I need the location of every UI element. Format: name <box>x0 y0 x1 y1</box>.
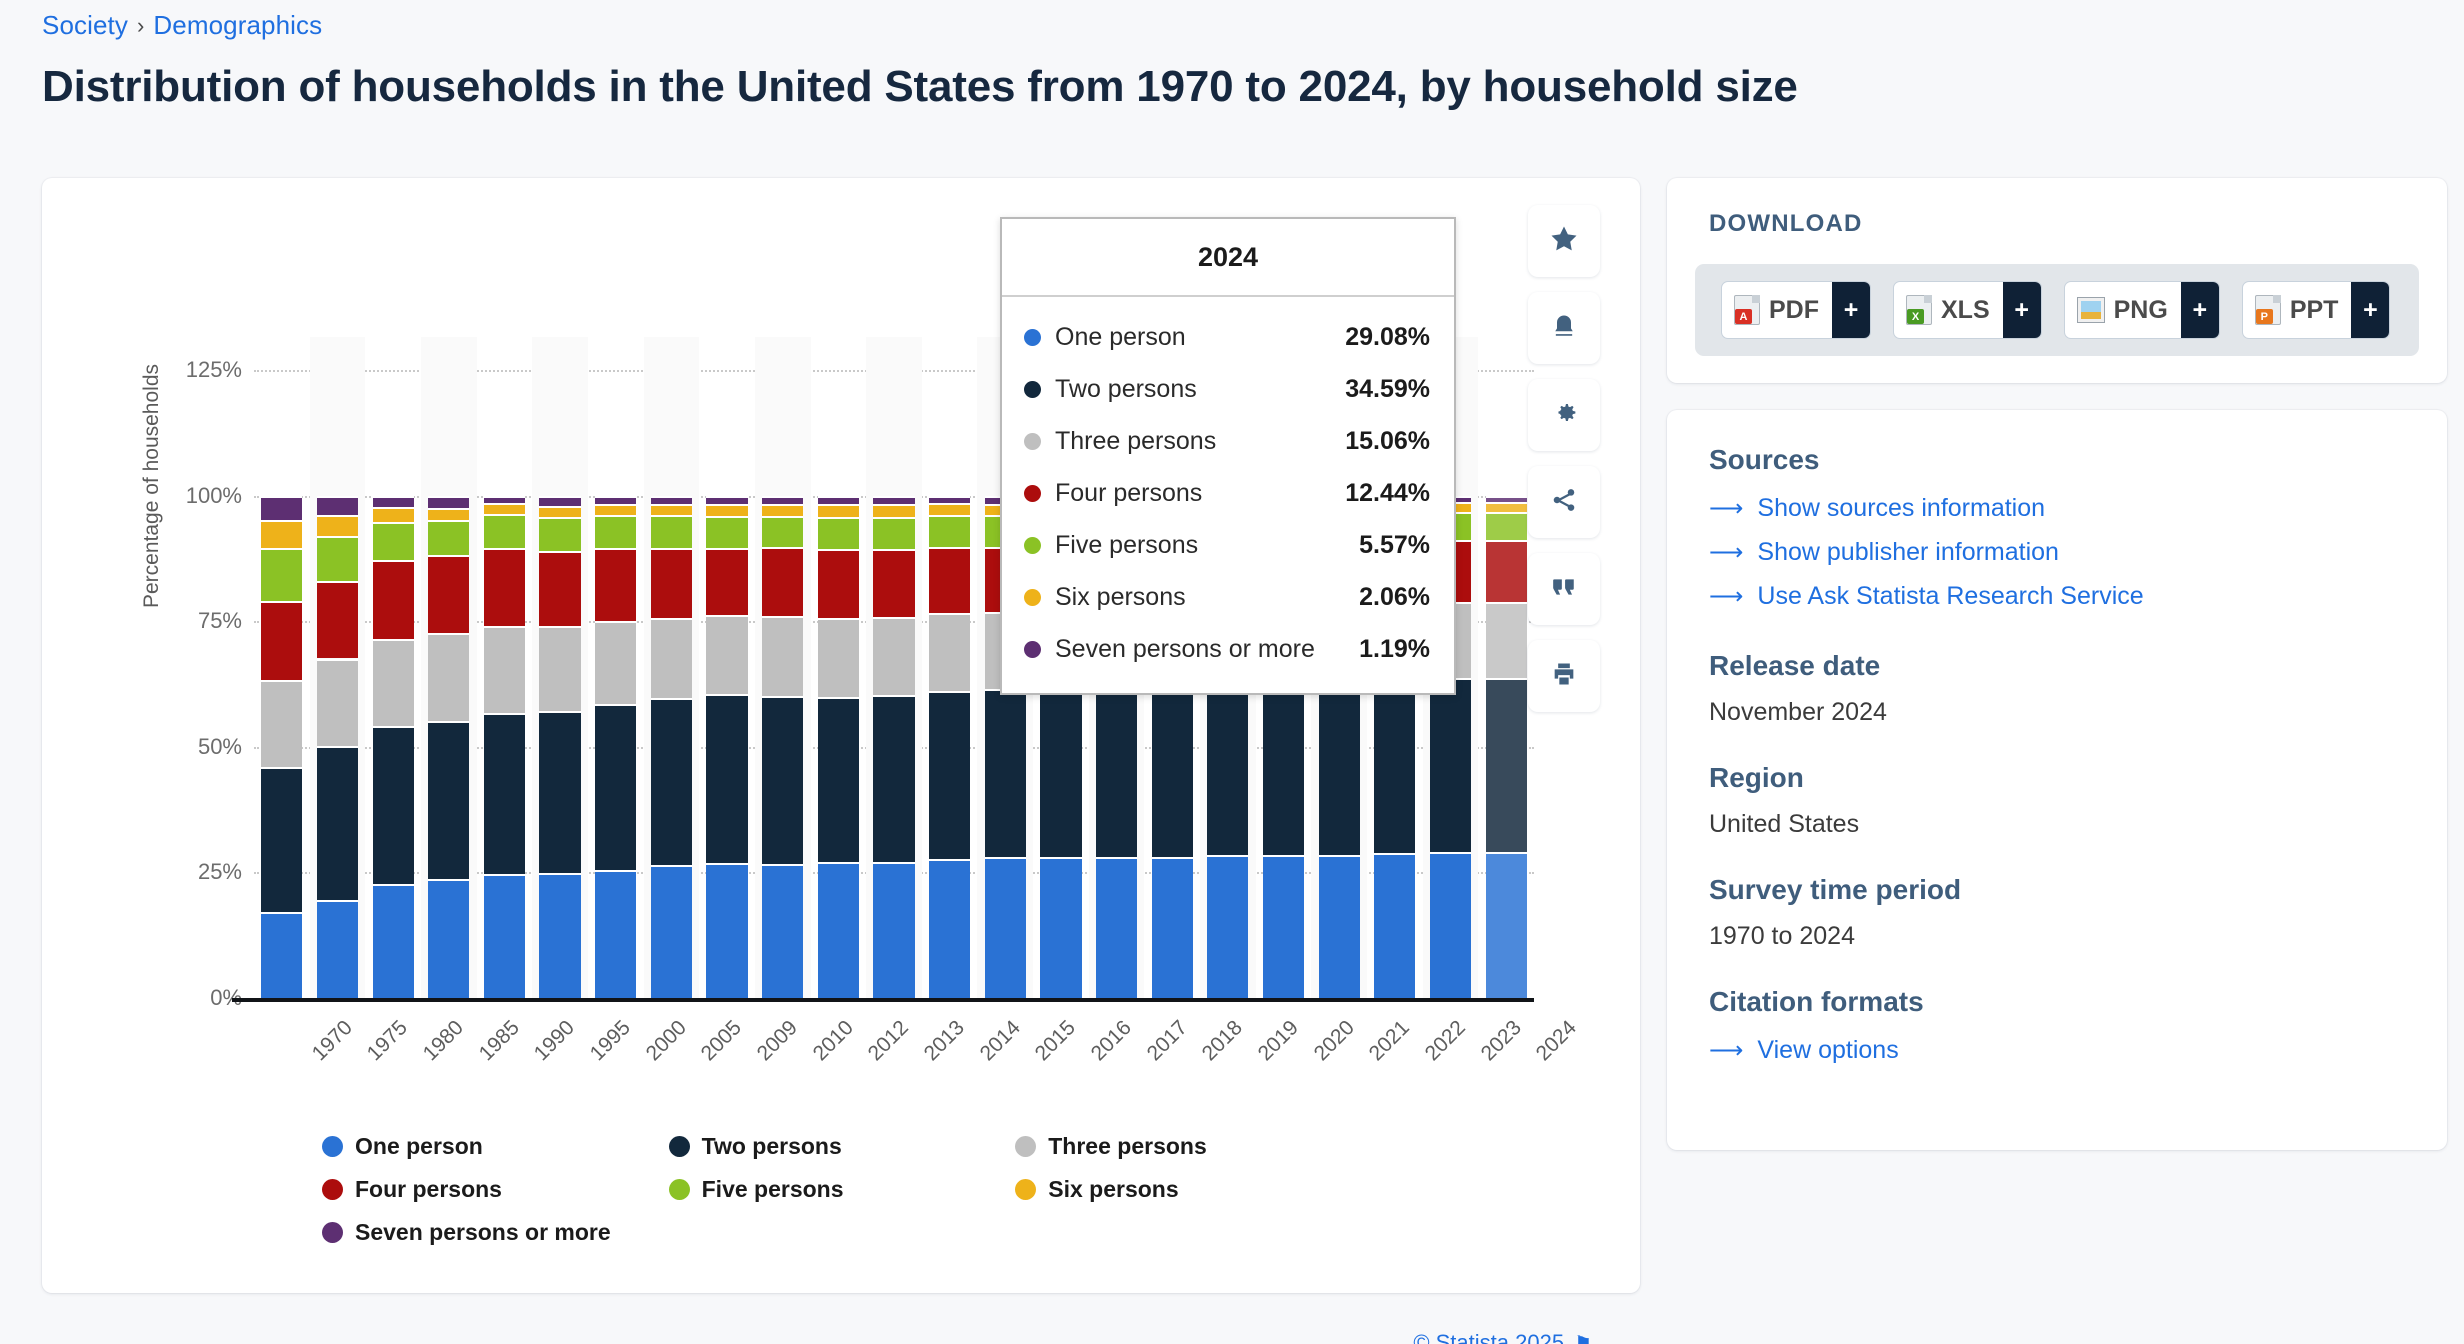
chart-legend: One personTwo personsThree personsFour p… <box>322 1133 1362 1246</box>
tooltip-color-dot <box>1024 433 1041 450</box>
legend-item-label: Six persons <box>1048 1176 1178 1203</box>
tooltip-row: One person29.08% <box>1024 311 1430 363</box>
bar-segment[interactable] <box>818 862 859 998</box>
bar-segment[interactable] <box>1263 855 1304 998</box>
survey-time-period-heading: Survey time period <box>1709 874 1961 906</box>
breadcrumb: Society › Demographics <box>42 10 322 41</box>
bar-segment[interactable] <box>651 515 692 548</box>
tooltip-row-value: 34.59% <box>1345 375 1430 404</box>
tooltip-row: Three persons15.06% <box>1024 415 1430 467</box>
tooltip-color-dot <box>1024 381 1041 398</box>
region-value: United States <box>1709 810 1859 839</box>
bar-segment[interactable] <box>317 515 358 536</box>
bar-segment[interactable] <box>1096 687 1137 858</box>
download-buttons-tray: APDF+XXLS+PNG+PPPT+ <box>1695 264 2419 356</box>
bar-segment[interactable] <box>261 912 302 998</box>
legend-color-dot <box>322 1179 343 1200</box>
bar-segment[interactable] <box>484 626 525 713</box>
legend-color-dot <box>322 1222 343 1243</box>
download-xls-button[interactable]: XXLS+ <box>1893 281 2042 339</box>
bar-column-1995[interactable] <box>539 370 580 998</box>
legend-item-label: Four persons <box>355 1176 502 1203</box>
tooltip-row: Seven persons or more1.19% <box>1024 623 1430 675</box>
bar-segment[interactable] <box>818 697 859 863</box>
bar-segment[interactable] <box>929 496 970 504</box>
x-axis-tick-label: 2023 <box>1476 1016 1526 1066</box>
download-button-label: PPT <box>2290 296 2339 325</box>
bar-segment[interactable] <box>428 879 469 998</box>
tooltip-color-dot <box>1024 641 1041 658</box>
bar-segment[interactable] <box>651 548 692 618</box>
bar-segment[interactable] <box>373 496 414 507</box>
view-citation-options-label: View options <box>1757 1036 1898 1065</box>
bar-segment[interactable] <box>595 496 636 505</box>
bar-segment[interactable] <box>929 515 970 547</box>
bar-segment[interactable] <box>1486 852 1527 998</box>
xls-file-icon: X <box>1906 295 1932 325</box>
bar-segment[interactable] <box>539 711 580 873</box>
bar-segment[interactable] <box>595 870 636 998</box>
tooltip-color-dot <box>1024 537 1041 554</box>
bar-segment[interactable] <box>539 551 580 626</box>
bar-segment[interactable] <box>484 874 525 998</box>
y-axis-tick-label: 125% <box>150 357 242 383</box>
share-icon <box>1550 486 1578 519</box>
legend-item[interactable]: Five persons <box>669 1176 1016 1203</box>
y-axis-tick-label: 100% <box>150 483 242 509</box>
bar-segment[interactable] <box>1263 682 1304 855</box>
bar-segment[interactable] <box>651 698 692 865</box>
bar-segment[interactable] <box>1430 678 1471 852</box>
download-options-plus-button[interactable]: + <box>2181 282 2219 338</box>
legend-color-dot <box>1015 1136 1036 1157</box>
x-axis-tick-label: 1980 <box>419 1016 469 1066</box>
show-sources-information-link[interactable]: ⟶ Show sources information <box>1709 494 2045 523</box>
breadcrumb-item-society[interactable]: Society <box>42 10 128 41</box>
bar-segment[interactable] <box>818 549 859 617</box>
bar-segment[interactable] <box>539 496 580 507</box>
bar-segment[interactable] <box>1152 685 1193 857</box>
bar-segment[interactable] <box>706 504 747 516</box>
sources-meta-card: Sources ⟶ Show sources information ⟶ Sho… <box>1667 410 2447 1150</box>
download-button-label: PNG <box>2114 296 2168 325</box>
bar-column-1980[interactable] <box>373 370 414 998</box>
bar-segment[interactable] <box>706 496 747 504</box>
legend-item[interactable]: Two persons <box>669 1133 1016 1160</box>
download-options-plus-button[interactable]: + <box>2351 282 2389 338</box>
tooltip-color-dot <box>1024 485 1041 502</box>
download-ppt-button[interactable]: PPPT+ <box>2242 281 2391 339</box>
bar-segment[interactable] <box>595 621 636 703</box>
bar-segment[interactable] <box>1486 502 1527 512</box>
legend-color-dot <box>669 1179 690 1200</box>
bar-segment[interactable] <box>484 496 525 504</box>
x-axis-tick-label: 2021 <box>1365 1016 1415 1066</box>
x-axis-tick-label: 2018 <box>1198 1016 1248 1066</box>
bar-segment[interactable] <box>373 884 414 998</box>
flag-icon[interactable]: ⚑ <box>1574 1331 1592 1344</box>
bar-segment[interactable] <box>1207 855 1248 998</box>
citation-formats-heading: Citation formats <box>1709 986 1924 1018</box>
y-axis-tick-label: 0% <box>150 985 242 1011</box>
bar-segment[interactable] <box>985 689 1026 857</box>
tooltip-color-dot <box>1024 329 1041 346</box>
bar-segment[interactable] <box>539 506 580 517</box>
bar-segment[interactable] <box>706 615 747 694</box>
legend-item[interactable]: Four persons <box>322 1176 669 1203</box>
bar-segment[interactable] <box>539 873 580 998</box>
bar-segment[interactable] <box>818 504 859 517</box>
legend-item-label: Two persons <box>702 1133 842 1160</box>
release-date-value: November 2024 <box>1709 698 1887 727</box>
bar-segment[interactable] <box>1374 853 1415 998</box>
bar-segment[interactable] <box>428 520 469 555</box>
bar-segment[interactable] <box>873 504 914 517</box>
bar-segment[interactable] <box>1486 540 1527 602</box>
tooltip-row-label: Two persons <box>1055 375 1345 404</box>
bar-segment[interactable] <box>595 548 636 621</box>
bar-segment[interactable] <box>651 865 692 998</box>
bar-segment[interactable] <box>1040 687 1081 857</box>
bar-column-2009[interactable] <box>706 370 747 998</box>
legend-item[interactable]: Six persons <box>1015 1176 1362 1203</box>
x-axis-tick-label: 2024 <box>1532 1016 1582 1066</box>
tooltip-row: Six persons2.06% <box>1024 571 1430 623</box>
copyright-notice: © Statista 2025 ⚑ <box>1413 1330 1592 1344</box>
bar-segment[interactable] <box>261 496 302 520</box>
x-axis-tick-label: 2016 <box>1087 1016 1137 1066</box>
x-axis-tick-label: 1970 <box>307 1016 357 1066</box>
bar-column-2012[interactable] <box>818 370 859 998</box>
download-png-button[interactable]: PNG+ <box>2064 281 2220 339</box>
x-axis-tick-label: 2013 <box>920 1016 970 1066</box>
bar-column-1975[interactable] <box>317 370 358 998</box>
tooltip-row-label: One person <box>1055 323 1345 352</box>
x-axis-tick-label: 2014 <box>975 1016 1025 1066</box>
chart-tooltip: 2024 One person29.08%Two persons34.59%Th… <box>1000 217 1456 695</box>
bar-segment[interactable] <box>651 496 692 504</box>
tooltip-row-value: 12.44% <box>1345 479 1430 508</box>
page-title: Distribution of households in the United… <box>42 62 1798 112</box>
bar-segment[interactable] <box>651 618 692 698</box>
tooltip-row: Five persons5.57% <box>1024 519 1430 571</box>
favorite-star-button[interactable] <box>1528 205 1600 277</box>
bar-segment[interactable] <box>873 862 914 998</box>
tooltip-row-value: 5.57% <box>1359 531 1430 560</box>
bar-column-2013[interactable] <box>873 370 914 998</box>
legend-item-label: Seven persons or more <box>355 1219 611 1246</box>
bar-segment[interactable] <box>484 503 525 514</box>
tooltip-row-label: Six persons <box>1055 583 1359 612</box>
chart-tool-rail <box>1528 205 1600 712</box>
tooltip-row-value: 29.08% <box>1345 323 1430 352</box>
x-axis-tick-label: 2022 <box>1421 1016 1471 1066</box>
bar-segment[interactable] <box>1319 681 1360 855</box>
show-publisher-information-link[interactable]: ⟶ Show publisher information <box>1709 538 2059 567</box>
y-axis-tick-label: 50% <box>150 734 242 760</box>
bar-segment[interactable] <box>317 581 358 658</box>
bar-segment[interactable] <box>706 516 747 548</box>
bar-segment[interactable] <box>539 517 580 551</box>
legend-color-dot <box>322 1136 343 1157</box>
tooltip-header: 2024 <box>1002 219 1454 297</box>
x-axis-tick-label: 2019 <box>1254 1016 1304 1066</box>
bar-segment[interactable] <box>985 857 1026 998</box>
copyright-label: © Statista 2025 <box>1413 1330 1564 1344</box>
bar-segment[interactable] <box>484 548 525 626</box>
settings-gear-icon <box>1550 398 1579 432</box>
bar-segment[interactable] <box>428 633 469 721</box>
bar-segment[interactable] <box>762 616 803 695</box>
download-pdf-button[interactable]: APDF+ <box>1721 281 1871 339</box>
bar-segment[interactable] <box>1207 683 1248 856</box>
tooltip-row-value: 1.19% <box>1359 635 1430 664</box>
bar-segment[interactable] <box>706 863 747 998</box>
bar-segment[interactable] <box>317 659 358 746</box>
bar-segment[interactable] <box>873 695 914 862</box>
y-axis-tick-labels: 0%25%50%75%100%125% <box>102 178 242 1293</box>
legend-item[interactable]: Three persons <box>1015 1133 1362 1160</box>
bar-segment[interactable] <box>595 704 636 870</box>
citation-quote-button[interactable] <box>1528 553 1600 625</box>
bar-segment[interactable] <box>261 520 302 548</box>
show-publisher-information-label: Show publisher information <box>1757 538 2059 567</box>
region-heading: Region <box>1709 762 1804 794</box>
bar-segment[interactable] <box>595 504 636 515</box>
settings-gear-button[interactable] <box>1528 379 1600 451</box>
x-axis-tick-label: 1990 <box>530 1016 580 1066</box>
tooltip-row: Four persons12.44% <box>1024 467 1430 519</box>
tooltip-row-label: Five persons <box>1055 531 1359 560</box>
bar-segment[interactable] <box>929 547 970 613</box>
bar-segment[interactable] <box>706 548 747 615</box>
bar-segment[interactable] <box>762 516 803 548</box>
bar-segment[interactable] <box>1486 512 1527 540</box>
x-axis-baseline <box>232 998 1534 1002</box>
x-axis-tick-label: 2000 <box>641 1016 691 1066</box>
x-axis-tick-label: 2015 <box>1031 1016 1081 1066</box>
bar-segment[interactable] <box>929 691 970 859</box>
bar-segment[interactable] <box>929 503 970 515</box>
x-axis-tick-label: 1975 <box>363 1016 413 1066</box>
bar-segment[interactable] <box>873 496 914 505</box>
citation-quote-icon <box>1551 576 1577 603</box>
bar-segment[interactable] <box>818 517 859 550</box>
bar-segment[interactable] <box>873 617 914 695</box>
x-axis-tick-label: 2010 <box>808 1016 858 1066</box>
tooltip-row-label: Four persons <box>1055 479 1345 508</box>
y-axis-tick-label: 25% <box>150 859 242 885</box>
x-axis-tick-label: 2017 <box>1142 1016 1192 1066</box>
bar-column-1990[interactable] <box>484 370 525 998</box>
bar-segment[interactable] <box>317 900 358 998</box>
tooltip-rows: One person29.08%Two persons34.59%Three p… <box>1002 297 1454 693</box>
bar-segment[interactable] <box>1040 857 1081 998</box>
ppt-file-icon: P <box>2255 295 2281 325</box>
favorite-star-icon <box>1549 224 1579 259</box>
bar-segment[interactable] <box>1486 602 1527 678</box>
bar-segment[interactable] <box>762 496 803 504</box>
show-sources-information-label: Show sources information <box>1757 494 2045 523</box>
arrow-right-icon: ⟶ <box>1709 1036 1743 1065</box>
bar-segment[interactable] <box>484 514 525 548</box>
bar-segment[interactable] <box>261 767 302 912</box>
download-options-plus-button[interactable]: + <box>2003 282 2041 338</box>
bar-segment[interactable] <box>873 549 914 617</box>
bar-segment[interactable] <box>929 859 970 998</box>
tooltip-row-value: 2.06% <box>1359 583 1430 612</box>
bar-segment[interactable] <box>373 639 414 727</box>
print-icon <box>1550 660 1578 693</box>
ask-statista-research-service-link[interactable]: ⟶ Use Ask Statista Research Service <box>1709 582 2144 611</box>
download-options-plus-button[interactable]: + <box>1832 282 1870 338</box>
bar-segment[interactable] <box>595 515 636 548</box>
download-heading: DOWNLOAD <box>1709 210 1863 238</box>
bar-segment[interactable] <box>1486 678 1527 852</box>
bar-segment[interactable] <box>762 864 803 998</box>
x-axis-tick-label: 2012 <box>864 1016 914 1066</box>
bar-column-1985[interactable] <box>428 370 469 998</box>
pdf-file-icon: A <box>1734 295 1760 325</box>
bar-segment[interactable] <box>428 496 469 509</box>
legend-item-label: Three persons <box>1048 1133 1207 1160</box>
tooltip-color-dot <box>1024 589 1041 606</box>
bar-segment[interactable] <box>317 746 358 900</box>
legend-item[interactable]: One person <box>322 1133 669 1160</box>
bar-segment[interactable] <box>929 613 970 691</box>
release-date-heading: Release date <box>1709 650 1880 682</box>
statista-chart-page: Society › Demographics Distribution of h… <box>0 0 2464 1344</box>
download-button-label: XLS <box>1941 296 1990 325</box>
bar-segment[interactable] <box>373 726 414 884</box>
breadcrumb-item-demographics[interactable]: Demographics <box>153 10 322 41</box>
bar-column-2014[interactable] <box>929 370 970 998</box>
bar-column-1970[interactable] <box>261 370 302 998</box>
bar-segment[interactable] <box>1152 857 1193 998</box>
view-citation-options-link[interactable]: ⟶ View options <box>1709 1036 1899 1065</box>
bar-segment[interactable] <box>317 496 358 515</box>
bar-segment[interactable] <box>1486 496 1527 502</box>
bar-segment[interactable] <box>373 522 414 560</box>
bar-segment[interactable] <box>873 517 914 549</box>
tooltip-row-label: Three persons <box>1055 427 1345 456</box>
tooltip-row-value: 15.06% <box>1345 427 1430 456</box>
x-axis-tick-label: 2020 <box>1309 1016 1359 1066</box>
sources-heading: Sources <box>1709 444 1820 476</box>
bar-segment[interactable] <box>539 626 580 711</box>
download-button-label: PDF <box>1769 296 1819 325</box>
notification-bell-button[interactable] <box>1528 292 1600 364</box>
bar-segment[interactable] <box>651 504 692 516</box>
ask-statista-research-service-label: Use Ask Statista Research Service <box>1757 582 2143 611</box>
bar-segment[interactable] <box>261 680 302 767</box>
x-axis-tick-label: 2005 <box>697 1016 747 1066</box>
y-axis-tick-label: 75% <box>150 608 242 634</box>
legend-color-dot <box>669 1136 690 1157</box>
png-file-icon <box>2077 297 2105 323</box>
bar-column-2005[interactable] <box>651 370 692 998</box>
bar-segment[interactable] <box>373 507 414 522</box>
bar-segment[interactable] <box>428 508 469 520</box>
bar-segment[interactable] <box>762 547 803 616</box>
bar-segment[interactable] <box>428 721 469 879</box>
bar-column-2010[interactable] <box>762 370 803 998</box>
bar-segment[interactable] <box>818 618 859 697</box>
download-card: DOWNLOAD APDF+XXLS+PNG+PPPT+ <box>1667 178 2447 383</box>
print-button[interactable] <box>1528 640 1600 712</box>
tooltip-row-label: Seven persons or more <box>1055 635 1359 664</box>
arrow-right-icon: ⟶ <box>1709 582 1743 611</box>
arrow-right-icon: ⟶ <box>1709 494 1743 523</box>
notification-bell-icon <box>1550 311 1578 346</box>
bar-segment[interactable] <box>818 496 859 505</box>
bar-segment[interactable] <box>484 713 525 875</box>
x-axis-tick-label: 1985 <box>474 1016 524 1066</box>
bar-segment[interactable] <box>1319 855 1360 998</box>
breadcrumb-separator-icon: › <box>137 13 144 39</box>
bar-segment[interactable] <box>762 696 803 864</box>
bar-segment[interactable] <box>261 601 302 680</box>
bar-segment[interactable] <box>317 536 358 581</box>
bar-segment[interactable] <box>762 504 803 516</box>
legend-item-label: Five persons <box>702 1176 844 1203</box>
bar-segment[interactable] <box>1430 852 1471 998</box>
bar-segment[interactable] <box>261 548 302 600</box>
x-axis-tick-label: 1995 <box>586 1016 636 1066</box>
bar-segment[interactable] <box>1096 857 1137 998</box>
legend-item[interactable]: Seven persons or more <box>322 1219 669 1246</box>
bar-column-2000[interactable] <box>595 370 636 998</box>
share-button[interactable] <box>1528 466 1600 538</box>
legend-item-label: One person <box>355 1133 483 1160</box>
bar-segment[interactable] <box>706 694 747 863</box>
bar-segment[interactable] <box>373 560 414 639</box>
legend-color-dot <box>1015 1179 1036 1200</box>
tooltip-row: Two persons34.59% <box>1024 363 1430 415</box>
x-axis-tick-label: 2009 <box>753 1016 803 1066</box>
arrow-right-icon: ⟶ <box>1709 538 1743 567</box>
bar-column-2024[interactable] <box>1486 370 1527 998</box>
bar-segment[interactable] <box>428 555 469 633</box>
survey-time-period-value: 1970 to 2024 <box>1709 922 1855 951</box>
bar-segment[interactable] <box>1374 680 1415 853</box>
